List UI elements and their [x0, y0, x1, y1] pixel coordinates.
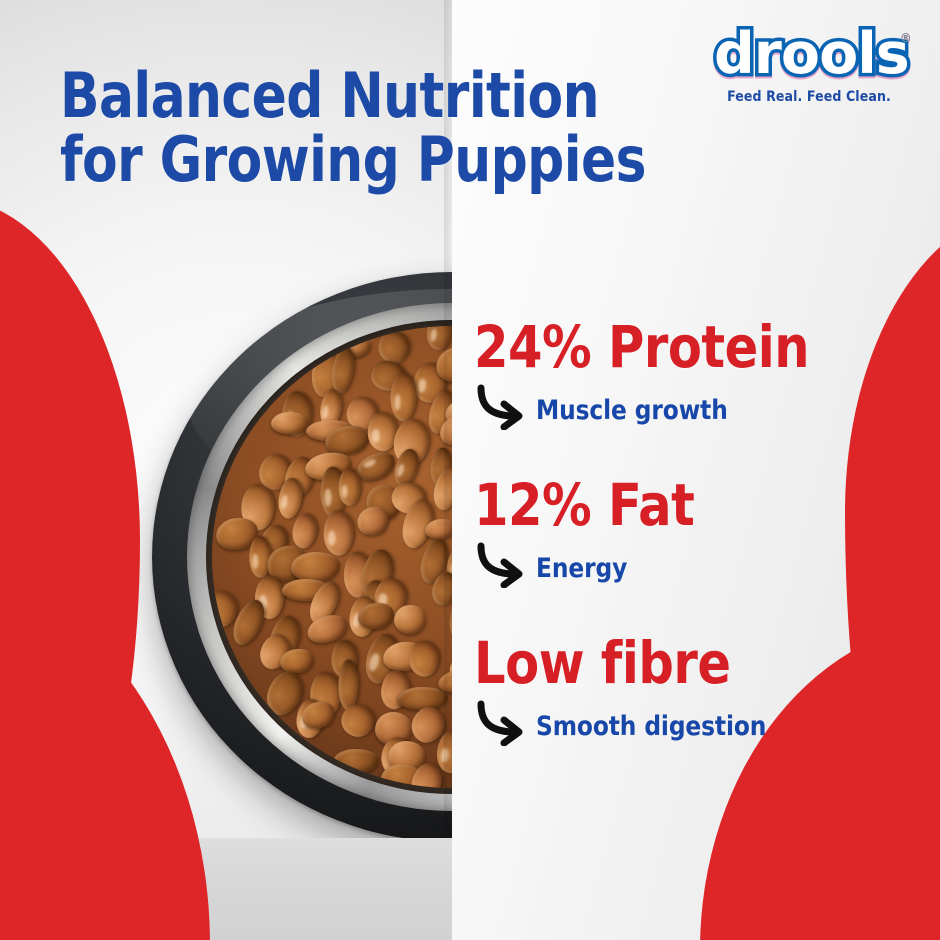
brand-logo: drools ® Feed Real. Feed Clean.	[714, 26, 904, 105]
stat-value: Low fibre	[474, 634, 873, 692]
brand-tagline: Feed Real. Feed Clean.	[714, 89, 904, 105]
nutrition-stats-list: 24% ProteinMuscle growth12% FatEnergyLow…	[474, 318, 894, 746]
logo-wordmark: drools ®	[714, 26, 909, 83]
kibble-piece	[291, 551, 341, 582]
page-title: Balanced Nutrition for Growing Puppies	[60, 64, 692, 193]
headline-line-1: Balanced Nutrition	[60, 64, 692, 128]
kibble-piece	[333, 749, 379, 774]
logo-text: drools	[714, 21, 909, 87]
stat-label: Energy	[536, 555, 627, 588]
curved-arrow-icon	[474, 382, 532, 430]
kibble-piece	[290, 511, 319, 550]
nutrition-stat: Low fibreSmooth digestion	[474, 634, 894, 746]
stat-value: 24% Protein	[474, 318, 873, 376]
promo-banner: Balanced Nutrition for Growing Puppies d…	[0, 0, 940, 940]
curved-arrow-icon	[474, 698, 532, 746]
curved-arrow-icon	[474, 540, 532, 588]
headline-line-2: for Growing Puppies	[60, 128, 692, 192]
kibble-piece	[390, 373, 417, 422]
kibble-piece	[338, 468, 361, 506]
kibble-piece	[409, 641, 439, 677]
stat-label: Smooth digestion	[536, 713, 766, 746]
nutrition-stat: 12% FatEnergy	[474, 476, 894, 588]
stat-value: 12% Fat	[474, 476, 873, 534]
kibble-piece	[323, 510, 354, 556]
stat-detail-row: Smooth digestion	[474, 698, 894, 746]
kibble-piece	[249, 536, 271, 578]
kibble-piece	[338, 660, 359, 711]
registered-trademark-icon: ®	[900, 32, 911, 44]
stat-label: Muscle growth	[536, 397, 728, 430]
stat-detail-row: Energy	[474, 540, 894, 588]
stat-detail-row: Muscle growth	[474, 382, 894, 430]
kibble-piece	[367, 412, 397, 451]
nutrition-stat: 24% ProteinMuscle growth	[474, 318, 894, 430]
